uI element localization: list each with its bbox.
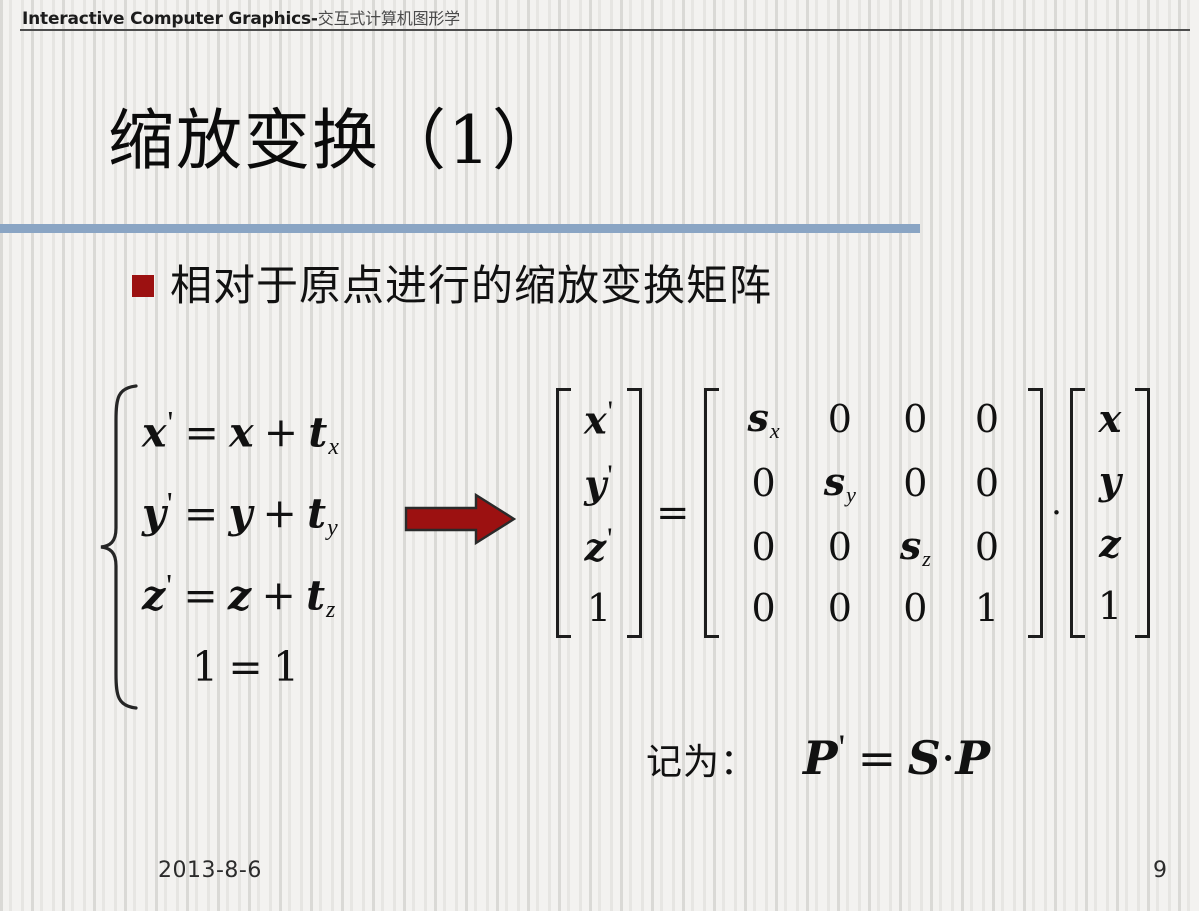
- note-p-prime: P: [803, 731, 838, 785]
- right-bracket-source-vector: [1134, 388, 1150, 638]
- header-title: Interactive Computer Graphics-交互式计算机图形学: [22, 5, 460, 29]
- note-p: P: [955, 731, 990, 785]
- equals-sign: =: [642, 490, 704, 536]
- matrix-cell: sz: [878, 516, 953, 580]
- vector-cell: y: [1099, 462, 1121, 501]
- note-dot: ·: [941, 731, 956, 785]
- vector-cell: z': [585, 525, 614, 567]
- vector-cell: 1: [1098, 587, 1122, 626]
- eq-equals: =: [184, 490, 218, 538]
- dot-product-sign: ·: [1043, 493, 1070, 533]
- note-equals: =: [858, 731, 897, 785]
- matrix-cell: 0: [802, 388, 878, 452]
- footer-page-number: 9: [1153, 858, 1167, 883]
- equation-system: x' = x + tx y' = y + ty z' = z + tz: [96, 382, 339, 712]
- eq-lhs-prime: ': [166, 405, 174, 440]
- eq-equals: =: [228, 643, 262, 691]
- equation-row: z' = z + tz: [142, 551, 339, 621]
- equation-row: y' = y + ty: [142, 469, 339, 539]
- bullet-item: 相对于原点进行的缩放变换矩阵: [132, 264, 772, 308]
- source-column-vector: x y z 1: [1086, 388, 1134, 638]
- right-bracket-scale-matrix: [1027, 388, 1043, 638]
- vector-cell: y': [584, 462, 613, 504]
- matrix-row: sx 0 0 0: [726, 388, 1022, 452]
- eq-term-subscript: x: [327, 434, 339, 460]
- left-bracket-result-vector: [556, 388, 572, 638]
- matrix-cell: 0: [878, 452, 953, 516]
- scale-matrix: sx 0 0 0 0 sy 0 0 0 0 sz 0 0 0 0 1: [726, 388, 1022, 638]
- eq-rhs-var: x: [229, 408, 253, 456]
- eq-rhs-var: y: [228, 490, 252, 538]
- right-bracket-result-vector: [626, 388, 642, 638]
- equation-list: x' = x + tx y' = y + ty z' = z + tz: [142, 382, 339, 712]
- vector-cell: 1: [587, 589, 611, 628]
- square-bullet-icon: [132, 275, 154, 297]
- eq-lhs-var: x: [142, 408, 166, 456]
- eq-term-var: t: [308, 408, 327, 456]
- eq-equals: =: [184, 408, 218, 456]
- result-column-vector: x' y' z' 1: [572, 388, 626, 638]
- note-s: S: [908, 731, 941, 785]
- vector-cell: z: [1099, 525, 1121, 564]
- eq-lhs-var: 1: [192, 643, 218, 691]
- matrix-cell: 0: [726, 516, 802, 580]
- left-bracket-scale-matrix: [704, 388, 720, 638]
- equation-row: x' = x + tx: [142, 388, 339, 458]
- page-title: 缩放变换（1）: [108, 108, 560, 174]
- note-prime: ': [838, 727, 846, 767]
- eq-plus: +: [264, 408, 298, 456]
- footer-date: 2013-8-6: [158, 858, 262, 883]
- matrix-cell: 1: [953, 579, 1021, 638]
- eq-term-var: t: [306, 571, 325, 619]
- eq-plus: +: [261, 571, 295, 619]
- matrix-cell: 0: [802, 516, 878, 580]
- matrix-cell: 0: [726, 452, 802, 516]
- matrix-row: 0 0 0 1: [726, 579, 1022, 638]
- vector-cell: x': [584, 398, 614, 440]
- matrix-cell: 0: [953, 516, 1021, 580]
- matrix-cell: sy: [802, 452, 878, 516]
- eq-term-subscript: y: [326, 515, 338, 541]
- title-underline-bar: [0, 224, 920, 233]
- eq-lhs-prime: ': [165, 568, 173, 603]
- header-title-en: Interactive Computer Graphics-: [22, 9, 318, 29]
- eq-lhs-var: y: [142, 490, 166, 538]
- matrix-cell: 0: [726, 579, 802, 638]
- vector-cell: x: [1099, 400, 1122, 439]
- matrix-cell: 0: [802, 579, 878, 638]
- note-label: 记为：: [646, 733, 757, 785]
- left-bracket-source-vector: [1070, 388, 1086, 638]
- eq-lhs-prime: ': [166, 486, 174, 521]
- matrix-row: 0 0 sz 0: [726, 516, 1022, 580]
- bullet-item-label: 相对于原点进行的缩放变换矩阵: [170, 264, 772, 308]
- slide-header: Interactive Computer Graphics-交互式计算机图形学: [0, 0, 1199, 38]
- eq-term-var: t: [307, 490, 326, 538]
- matrix-cell: 0: [953, 388, 1021, 452]
- matrix-cell: 0: [878, 579, 953, 638]
- matrix-cell: 0: [953, 452, 1021, 516]
- matrix-cell: sx: [726, 388, 802, 452]
- slide-canvas: Interactive Computer Graphics-交互式计算机图形学 …: [0, 0, 1199, 911]
- eq-term-subscript: z: [325, 597, 335, 623]
- eq-lhs-var: z: [142, 571, 165, 619]
- left-curly-brace-icon: [96, 382, 142, 712]
- eq-equals: =: [183, 571, 217, 619]
- matrix-row: 0 sy 0 0: [726, 452, 1022, 516]
- matrix-equation: x' y' z' 1 = sx 0 0 0 0 sy 0 0 0 0: [556, 388, 1150, 638]
- equation-row: 1 = 1: [142, 632, 339, 702]
- header-divider: [20, 29, 1190, 31]
- eq-plus: +: [263, 490, 297, 538]
- note-line: 记为： P' = S·P: [646, 726, 990, 785]
- header-title-cn: 交互式计算机图形学: [318, 9, 460, 28]
- note-formula: P' = S·P: [757, 726, 990, 785]
- eq-rhs-var: 1: [273, 643, 299, 691]
- matrix-cell: 0: [878, 388, 953, 452]
- right-arrow-icon: [404, 492, 516, 546]
- eq-rhs-var: z: [228, 571, 251, 619]
